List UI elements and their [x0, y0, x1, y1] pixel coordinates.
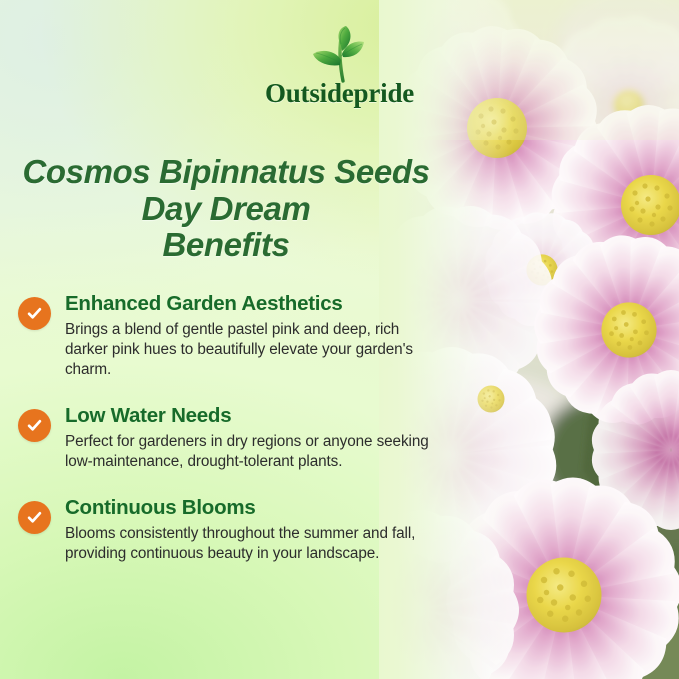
benefit-body: Brings a blend of gentle pastel pink and…	[65, 320, 430, 381]
page-title: Cosmos Bipinnatus Seeds Day Dream Benefi…	[0, 154, 452, 264]
title-line-1: Cosmos Bipinnatus Seeds	[0, 154, 452, 191]
benefits-list: Enhanced Garden Aesthetics Brings a blen…	[18, 292, 430, 564]
brand-name: Outsidepride	[265, 80, 414, 107]
benefit-text: Continuous Blooms Blooms consistently th…	[65, 496, 430, 564]
benefit-heading: Low Water Needs	[65, 404, 430, 429]
benefit-body: Blooms consistently throughout the summe…	[65, 524, 430, 564]
orange-check-circle-icon	[18, 297, 51, 330]
benefit-body: Perfect for gardeners in dry regions or …	[65, 432, 430, 472]
benefit-item: Enhanced Garden Aesthetics Brings a blen…	[18, 292, 430, 380]
three-leaf-sprout-icon	[294, 24, 386, 86]
title-line-2: Day Dream	[0, 191, 452, 228]
product-benefits-infographic: Outsidepride Cosmos Bipinnatus Seeds Day…	[0, 0, 679, 679]
benefit-item: Continuous Blooms Blooms consistently th…	[18, 496, 430, 564]
title-line-3: Benefits	[0, 227, 452, 264]
benefit-heading: Enhanced Garden Aesthetics	[65, 292, 430, 317]
benefit-heading: Continuous Blooms	[65, 496, 430, 521]
orange-check-circle-icon	[18, 409, 51, 442]
benefit-item: Low Water Needs Perfect for gardeners in…	[18, 404, 430, 472]
benefit-text: Enhanced Garden Aesthetics Brings a blen…	[65, 292, 430, 380]
brand-logo[interactable]: Outsidepride	[0, 24, 679, 107]
orange-check-circle-icon	[18, 501, 51, 534]
benefit-text: Low Water Needs Perfect for gardeners in…	[65, 404, 430, 472]
